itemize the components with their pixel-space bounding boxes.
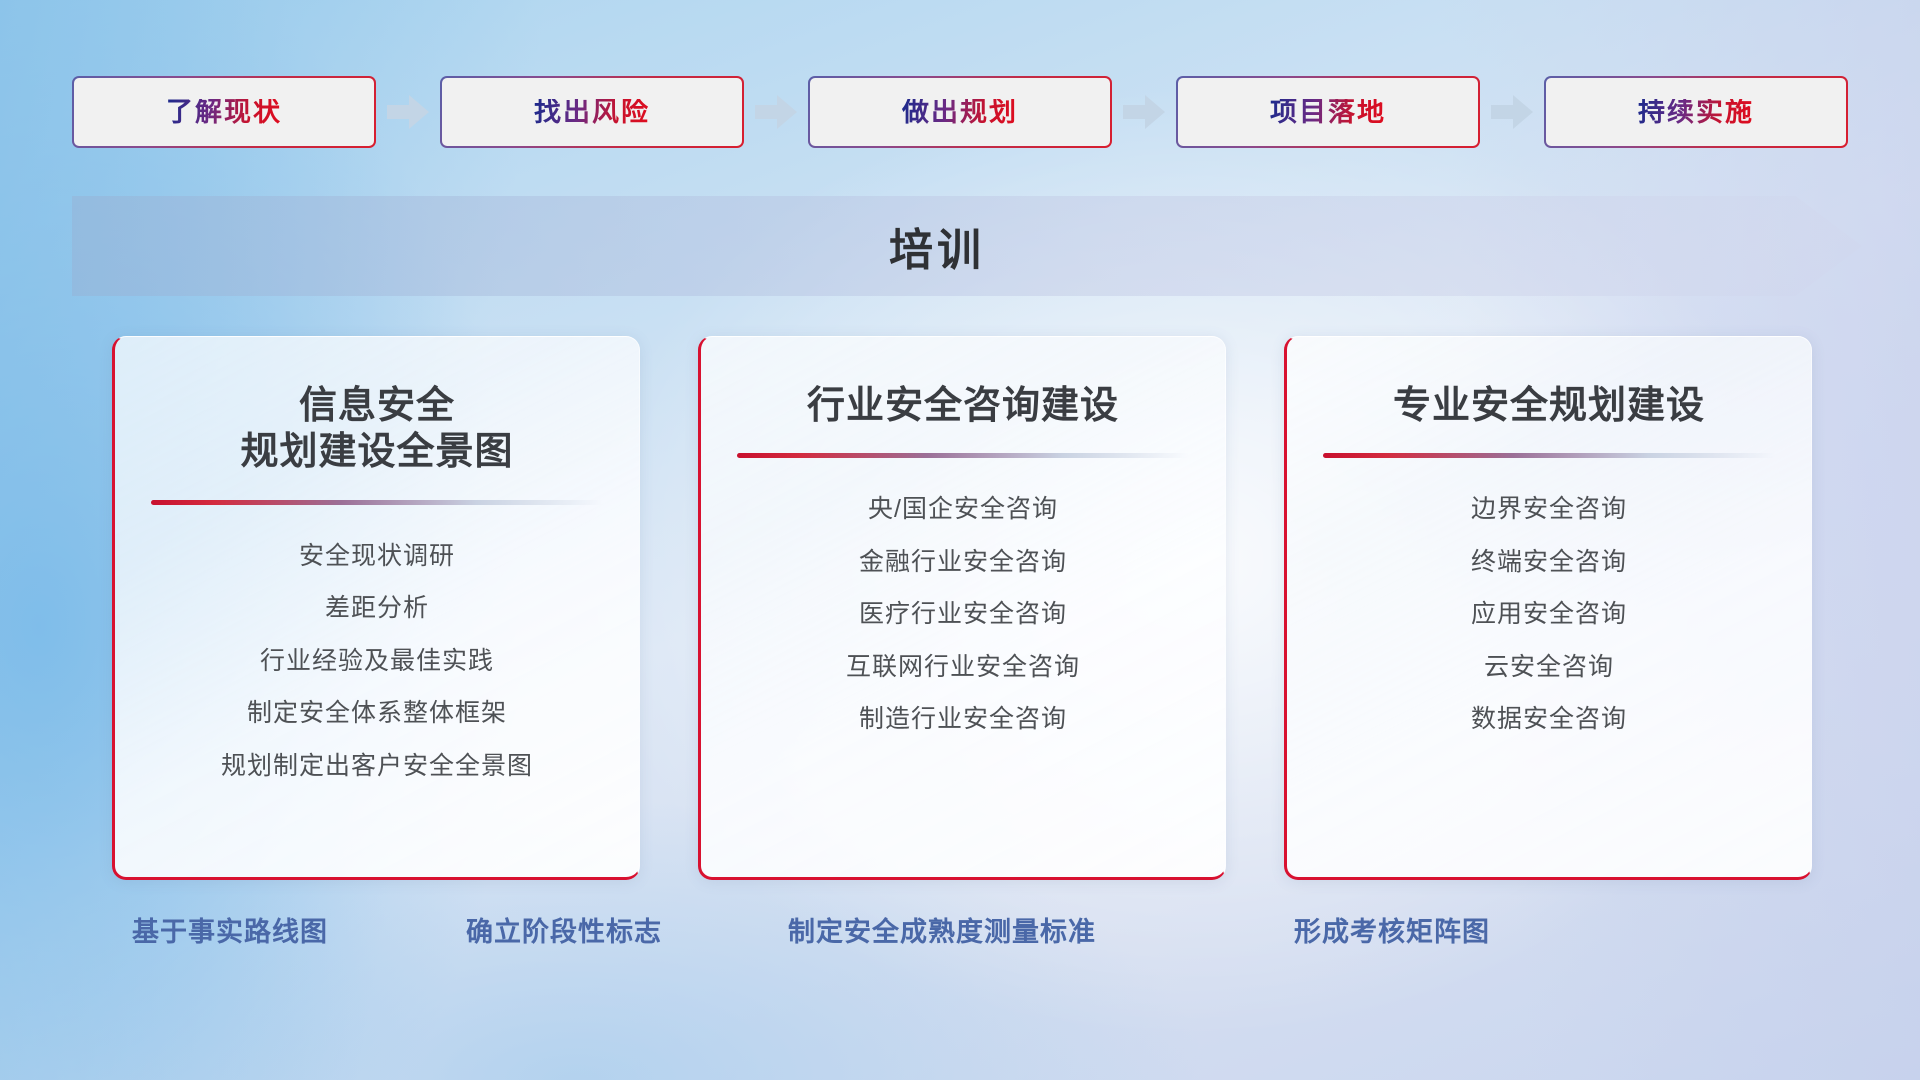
process-step-label: 做出规划 xyxy=(902,99,1018,126)
list-item: 金融行业安全咨询 xyxy=(859,541,1067,584)
service-cards: 信息安全 规划建设全景图安全现状调研差距分析行业经验及最佳实践制定安全体系整体框… xyxy=(112,336,1812,880)
service-card-title: 信息安全 规划建设全景图 xyxy=(240,383,513,476)
list-item: 制造行业安全咨询 xyxy=(859,698,1067,741)
process-step-inner: 了解现状 xyxy=(74,78,374,146)
service-card-list: 边界安全咨询终端安全咨询应用安全咨询云安全咨询数据安全咨询 xyxy=(1471,488,1627,741)
list-item: 应用安全咨询 xyxy=(1471,593,1627,636)
service-card-divider xyxy=(151,500,603,505)
list-item: 安全现状调研 xyxy=(299,535,455,578)
list-item: 云安全咨询 xyxy=(1484,646,1614,689)
service-card-list: 安全现状调研差距分析行业经验及最佳实践制定安全体系整体框架规划制定出客户安全全景… xyxy=(221,535,533,788)
process-step-label: 持续实施 xyxy=(1638,99,1754,126)
list-item: 行业经验及最佳实践 xyxy=(260,640,494,683)
service-card-2[interactable]: 行业安全咨询建设央/国企安全咨询金融行业安全咨询医疗行业安全咨询互联网行业安全咨… xyxy=(698,336,1226,880)
process-step-5[interactable]: 持续实施 xyxy=(1544,76,1848,148)
list-item: 边界安全咨询 xyxy=(1471,488,1627,531)
outcome-caption-2: 确立阶段性标志 xyxy=(466,910,662,949)
list-item: 数据安全咨询 xyxy=(1471,698,1627,741)
outcome-captions: 基于事实路线图确立阶段性标志制定安全成熟度测量标准形成考核矩阵图 xyxy=(0,910,1920,970)
process-step-1[interactable]: 了解现状 xyxy=(72,76,376,148)
arrow-right-icon xyxy=(376,95,440,129)
service-card-list: 央/国企安全咨询金融行业安全咨询医疗行业安全咨询互联网行业安全咨询制造行业安全咨… xyxy=(846,488,1080,741)
process-step-inner: 找出风险 xyxy=(442,78,742,146)
arrow-right-icon xyxy=(744,95,808,129)
service-card-title: 专业安全规划建设 xyxy=(1393,383,1705,429)
list-item: 医疗行业安全咨询 xyxy=(859,593,1067,636)
process-step-3[interactable]: 做出规划 xyxy=(808,76,1112,148)
list-item: 互联网行业安全咨询 xyxy=(846,646,1080,689)
arrow-right-icon xyxy=(1480,95,1544,129)
list-item: 制定安全体系整体框架 xyxy=(247,692,507,735)
list-item: 差距分析 xyxy=(325,587,429,630)
training-banner: 培训 xyxy=(72,196,1862,296)
process-step-2[interactable]: 找出风险 xyxy=(440,76,744,148)
service-card-1[interactable]: 信息安全 规划建设全景图安全现状调研差距分析行业经验及最佳实践制定安全体系整体框… xyxy=(112,336,640,880)
process-step-inner: 持续实施 xyxy=(1546,78,1846,146)
process-steps: 了解现状找出风险做出规划项目落地持续实施 xyxy=(72,76,1848,148)
outcome-caption-4: 形成考核矩阵图 xyxy=(1294,910,1490,949)
process-step-label: 找出风险 xyxy=(534,99,650,126)
list-item: 终端安全咨询 xyxy=(1471,541,1627,584)
process-step-label: 了解现状 xyxy=(166,99,282,126)
list-item: 规划制定出客户安全全景图 xyxy=(221,745,533,788)
process-step-label: 项目落地 xyxy=(1270,99,1386,126)
process-step-inner: 做出规划 xyxy=(810,78,1110,146)
outcome-caption-3: 制定安全成熟度测量标准 xyxy=(788,910,1096,949)
service-card-divider xyxy=(1323,453,1775,458)
arrow-right-icon xyxy=(1112,95,1176,129)
process-step-inner: 项目落地 xyxy=(1178,78,1478,146)
banner-title: 培训 xyxy=(72,196,1862,296)
process-step-4[interactable]: 项目落地 xyxy=(1176,76,1480,148)
service-card-title: 行业安全咨询建设 xyxy=(807,383,1119,429)
service-card-divider xyxy=(737,453,1189,458)
service-card-3[interactable]: 专业安全规划建设边界安全咨询终端安全咨询应用安全咨询云安全咨询数据安全咨询 xyxy=(1284,336,1812,880)
list-item: 央/国企安全咨询 xyxy=(868,488,1058,531)
outcome-caption-1: 基于事实路线图 xyxy=(132,910,328,949)
slide-canvas: 了解现状找出风险做出规划项目落地持续实施 培训 信息安全 规划建设全景图安全现状… xyxy=(0,0,1920,1080)
